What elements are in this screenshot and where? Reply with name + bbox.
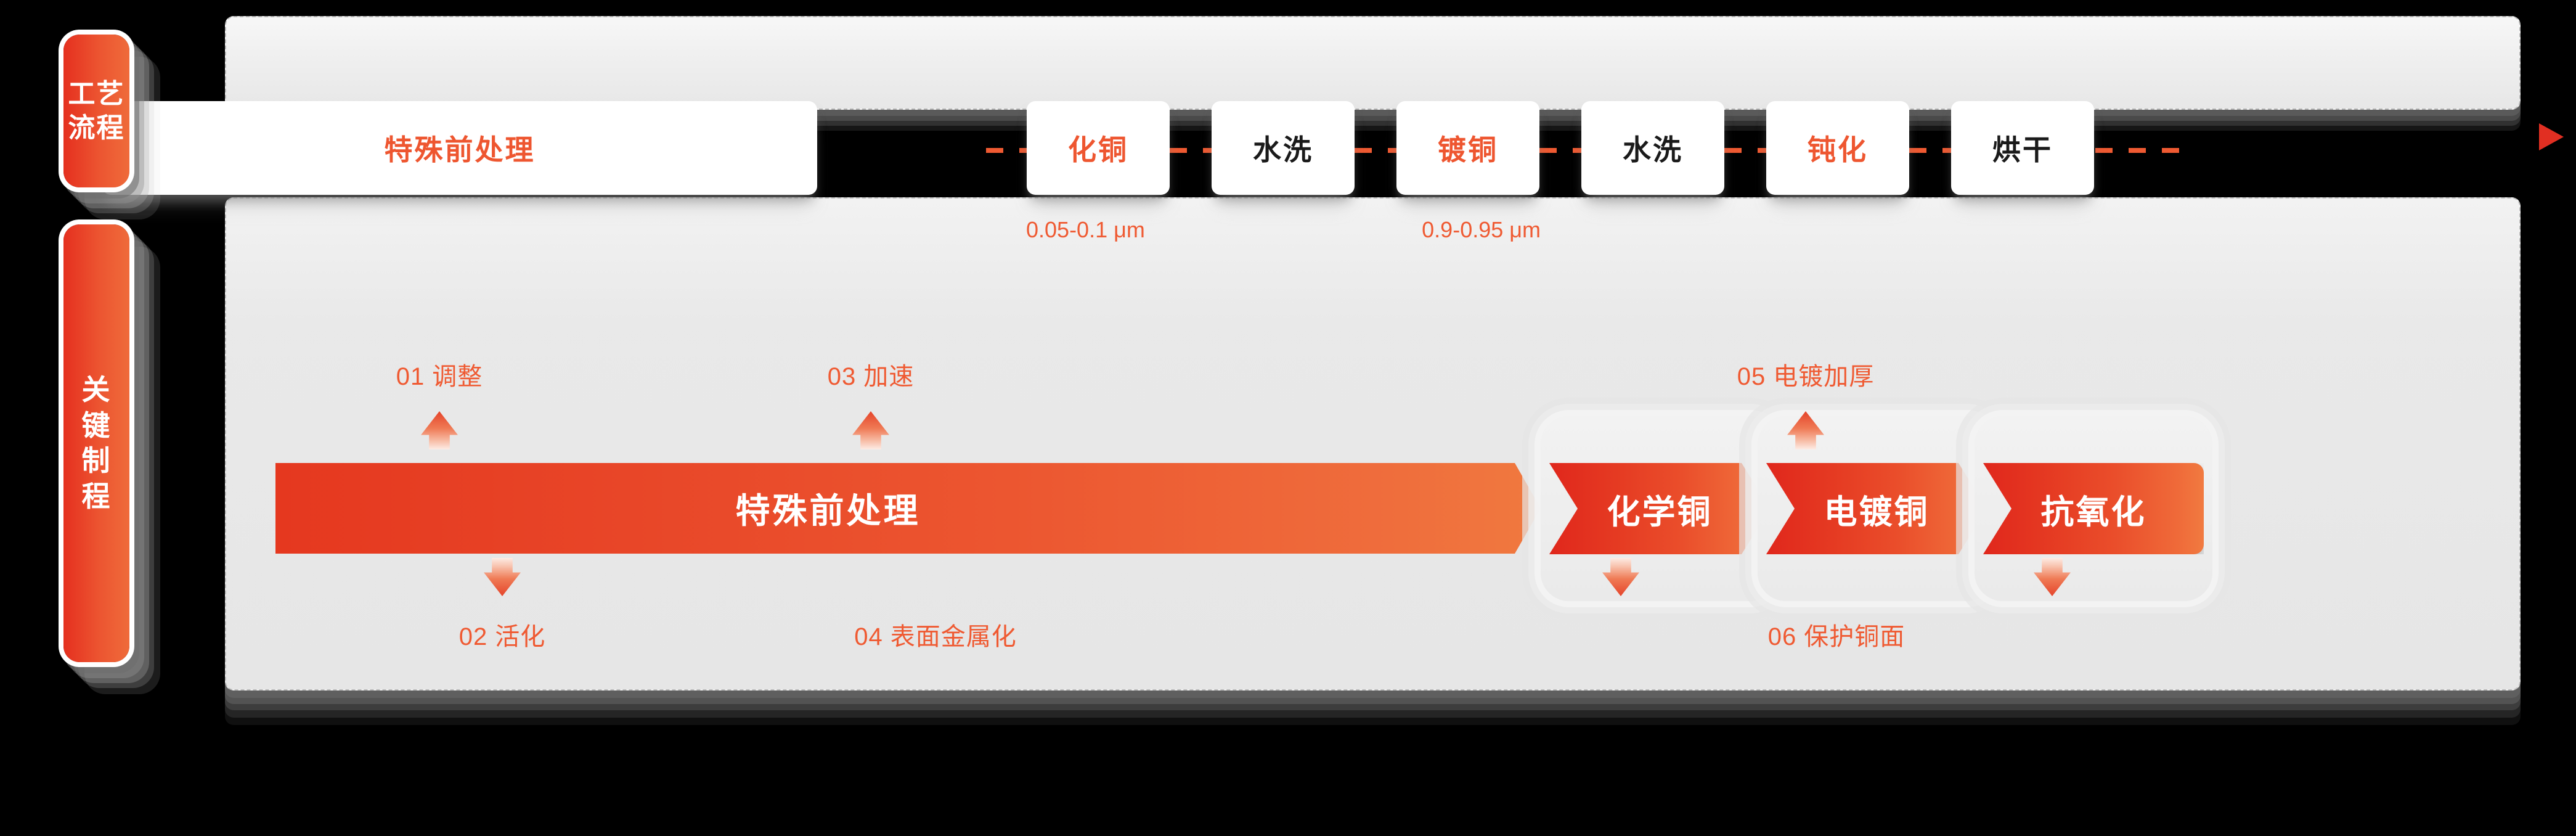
step-box-4-thickness-note: 0.9-0.95 μm bbox=[1422, 217, 1541, 243]
chevron-2-label: 电镀铜 bbox=[1824, 485, 1930, 533]
chevron-1-label: 化学铜 bbox=[1607, 485, 1713, 533]
chevron-2[interactable]: 电镀铜 bbox=[1766, 463, 1987, 554]
chevron-wrap-2: 电镀铜 bbox=[1758, 416, 1995, 601]
step-box-6-label: 钝化 bbox=[1808, 128, 1868, 168]
marker-label-04: 04 表面金属化 bbox=[854, 617, 1017, 652]
chevron-3[interactable]: 抗氧化 bbox=[1983, 463, 2204, 554]
connector-dash-1 bbox=[986, 148, 1030, 153]
step-box-4[interactable]: 镀铜 bbox=[1396, 101, 1539, 195]
step-box-1-label: 特殊前处理 bbox=[385, 128, 536, 168]
key-process-label-char-3: 制 bbox=[82, 445, 112, 477]
chevron-wrap-3: 抗氧化 bbox=[1975, 416, 2212, 601]
connector-dash-7 bbox=[2095, 148, 2182, 153]
process-flow-label-line-2: 流程 bbox=[68, 111, 125, 145]
chevron-1[interactable]: 化学铜 bbox=[1549, 463, 1770, 554]
marker-label-02: 02 活化 bbox=[459, 617, 546, 652]
process-flow-row: 工艺 流程 特殊前处理 化铜 0.05-0.1 μm 水洗 镀铜 0.9-0.9… bbox=[62, 16, 2521, 110]
step-box-7[interactable]: 烘干 bbox=[1951, 101, 2094, 195]
connector-dash-3 bbox=[1355, 148, 1400, 153]
key-process-row-label: 关 键 制 程 bbox=[63, 224, 129, 662]
step-box-6[interactable]: 钝化 bbox=[1766, 101, 1909, 195]
marker-label-05: 05 电镀加厚 bbox=[1737, 356, 1875, 392]
key-process-main-bar[interactable]: 特殊前处理 bbox=[275, 463, 1541, 554]
process-flow-row-label: 工艺 流程 bbox=[63, 35, 129, 187]
step-box-1[interactable]: 特殊前处理 bbox=[102, 101, 817, 195]
key-process-row: 关 键 制 程 特殊前处理 化学铜 电镀铜 抗氧化 bbox=[62, 197, 2521, 789]
chevron-wrap-1: 化学铜 bbox=[1541, 416, 1779, 601]
step-box-5-label: 水洗 bbox=[1623, 128, 1683, 168]
step-box-2[interactable]: 化铜 bbox=[1027, 101, 1170, 195]
connector-dash-6 bbox=[1909, 148, 1955, 153]
marker-label-01: 01 调整 bbox=[396, 356, 483, 392]
marker-label-06: 06 保护铜面 bbox=[1768, 617, 1906, 652]
step-box-2-label: 化铜 bbox=[1068, 128, 1128, 168]
step-box-3[interactable]: 水洗 bbox=[1212, 101, 1355, 195]
chevron-3-label: 抗氧化 bbox=[2041, 485, 2146, 533]
process-flow-panel bbox=[225, 16, 2521, 110]
step-box-5[interactable]: 水洗 bbox=[1581, 101, 1724, 195]
key-process-label-char-2: 键 bbox=[82, 409, 112, 441]
flow-end-arrow-icon bbox=[2539, 123, 2564, 150]
key-process-label-char-1: 关 bbox=[82, 374, 112, 406]
step-box-3-label: 水洗 bbox=[1253, 128, 1313, 168]
connector-dash-2 bbox=[1170, 148, 1215, 153]
connector-dash-4 bbox=[1539, 148, 1585, 153]
diagram-canvas: 工艺 流程 特殊前处理 化铜 0.05-0.1 μm 水洗 镀铜 0.9-0.9… bbox=[0, 0, 2576, 836]
step-box-7-label: 烘干 bbox=[1992, 128, 2053, 168]
marker-label-03: 03 加速 bbox=[828, 356, 915, 392]
key-process-label-char-4: 程 bbox=[82, 480, 112, 512]
step-box-4-label: 镀铜 bbox=[1438, 128, 1498, 168]
key-process-main-bar-label: 特殊前处理 bbox=[736, 483, 921, 533]
step-box-2-thickness-note: 0.05-0.1 μm bbox=[1026, 217, 1145, 243]
process-flow-label-line-1: 工艺 bbox=[68, 77, 125, 111]
connector-dash-5 bbox=[1724, 148, 1770, 153]
